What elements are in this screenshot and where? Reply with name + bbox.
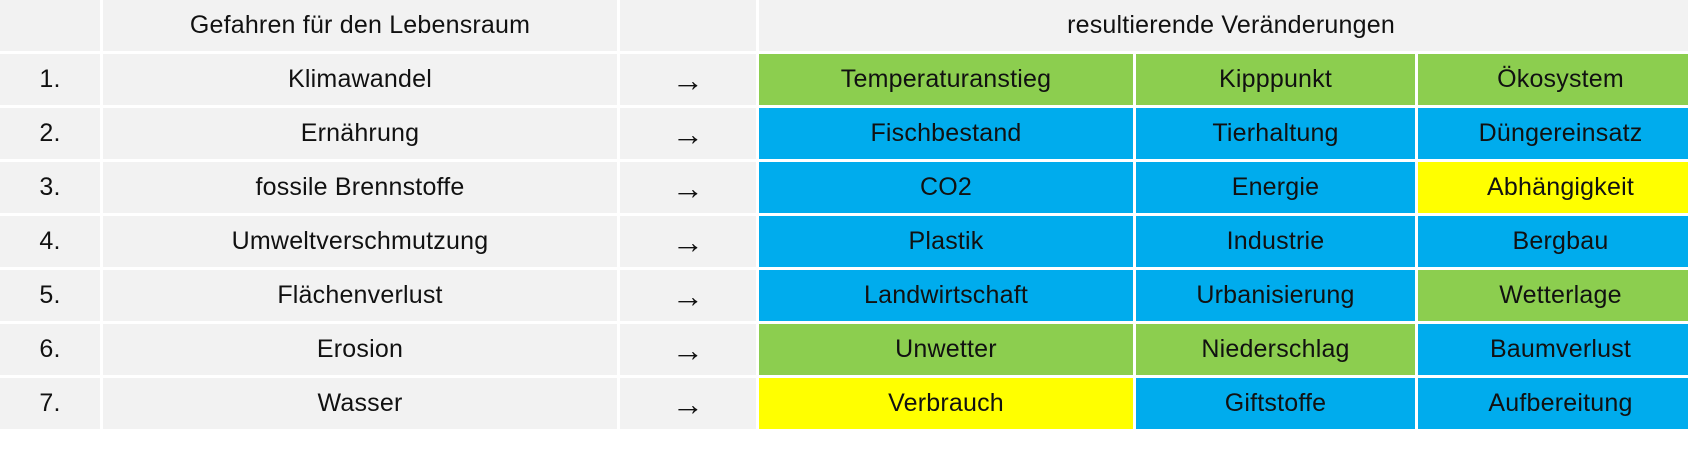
- change-cell: Ökosystem: [1418, 54, 1688, 105]
- header-row: Gefahren für den Lebensraum resultierend…: [0, 0, 1688, 51]
- hazard-cell: fossile Brennstoffe: [103, 162, 617, 213]
- change-cell: Baumverlust: [1418, 324, 1688, 375]
- change-cell: Giftstoffe: [1136, 378, 1415, 429]
- header-index-cell: [0, 0, 100, 51]
- change-cell: Industrie: [1136, 216, 1415, 267]
- arrow-right-glyph: →: [672, 64, 704, 96]
- table-row: 2.Ernährung→FischbestandTierhaltungDünge…: [0, 108, 1688, 159]
- arrow-right-icon: →: [620, 216, 756, 267]
- arrow-right-glyph: →: [672, 334, 704, 366]
- change-cell: Bergbau: [1418, 216, 1688, 267]
- hazard-cell: Umweltverschmutzung: [103, 216, 617, 267]
- change-cell: Verbrauch: [759, 378, 1133, 429]
- row-index-cell: 1.: [0, 54, 100, 105]
- arrow-right-icon: →: [620, 270, 756, 321]
- arrow-right-icon: →: [620, 162, 756, 213]
- table-row: 4.Umweltverschmutzung→PlastikIndustrieBe…: [0, 216, 1688, 267]
- change-cell: Urbanisierung: [1136, 270, 1415, 321]
- change-cell: Landwirtschaft: [759, 270, 1133, 321]
- table-header: Gefahren für den Lebensraum resultierend…: [0, 0, 1688, 51]
- change-cell: Plastik: [759, 216, 1133, 267]
- change-cell: Wetterlage: [1418, 270, 1688, 321]
- arrow-right-glyph: →: [672, 388, 704, 420]
- change-cell: Aufbereitung: [1418, 378, 1688, 429]
- row-index-cell: 5.: [0, 270, 100, 321]
- table-row: 6.Erosion→UnwetterNiederschlagBaumverlus…: [0, 324, 1688, 375]
- hazard-cell: Flächenverlust: [103, 270, 617, 321]
- row-index-cell: 7.: [0, 378, 100, 429]
- hazard-cell: Erosion: [103, 324, 617, 375]
- header-arrow-cell: [620, 0, 756, 51]
- table-body: 1.Klimawandel→TemperaturanstiegKipppunkt…: [0, 54, 1688, 429]
- table-row: 5.Flächenverlust→LandwirtschaftUrbanisie…: [0, 270, 1688, 321]
- arrow-right-glyph: →: [672, 118, 704, 150]
- row-index-cell: 3.: [0, 162, 100, 213]
- change-cell: Unwetter: [759, 324, 1133, 375]
- change-cell: Temperaturanstieg: [759, 54, 1133, 105]
- change-cell: Kipppunkt: [1136, 54, 1415, 105]
- hazard-cell: Wasser: [103, 378, 617, 429]
- change-cell: Energie: [1136, 162, 1415, 213]
- hazards-changes-table: Gefahren für den Lebensraum resultierend…: [0, 0, 1688, 432]
- arrow-right-glyph: →: [672, 226, 704, 258]
- table-row: 1.Klimawandel→TemperaturanstiegKipppunkt…: [0, 54, 1688, 105]
- change-cell: Fischbestand: [759, 108, 1133, 159]
- change-cell: Abhängigkeit: [1418, 162, 1688, 213]
- arrow-right-icon: →: [620, 54, 756, 105]
- arrow-right-glyph: →: [672, 280, 704, 312]
- change-cell: CO2: [759, 162, 1133, 213]
- row-index-cell: 4.: [0, 216, 100, 267]
- change-cell: Tierhaltung: [1136, 108, 1415, 159]
- table-row: 7.Wasser→VerbrauchGiftstoffeAufbereitung: [0, 378, 1688, 429]
- arrow-right-icon: →: [620, 324, 756, 375]
- arrow-right-icon: →: [620, 108, 756, 159]
- change-cell: Niederschlag: [1136, 324, 1415, 375]
- arrow-right-glyph: →: [672, 172, 704, 204]
- header-changes-title: resultierende Veränderungen: [759, 0, 1688, 51]
- row-index-cell: 2.: [0, 108, 100, 159]
- arrow-right-icon: →: [620, 378, 756, 429]
- table-row: 3.fossile Brennstoffe→CO2EnergieAbhängig…: [0, 162, 1688, 213]
- change-cell: Düngereinsatz: [1418, 108, 1688, 159]
- row-index-cell: 6.: [0, 324, 100, 375]
- hazard-cell: Ernährung: [103, 108, 617, 159]
- hazards-table-sheet: Gefahren für den Lebensraum resultierend…: [0, 0, 1688, 465]
- header-hazards-title: Gefahren für den Lebensraum: [103, 0, 617, 51]
- hazard-cell: Klimawandel: [103, 54, 617, 105]
